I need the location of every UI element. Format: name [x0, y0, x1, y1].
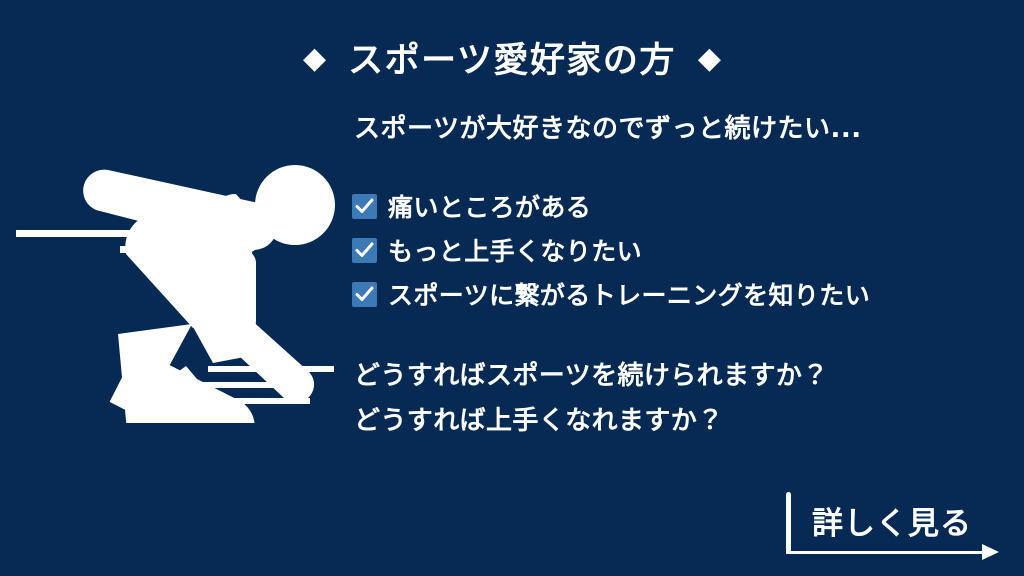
- list-item[interactable]: もっと上手くなりたい: [352, 233, 1012, 267]
- benefit-checklist: 痛いところがある もっと上手くなりたい スポーツに繋がるトレーニングを知りたい: [352, 189, 1012, 311]
- page-title-text: スポーツ愛好家の方: [348, 32, 676, 83]
- diamond-left-icon: ◆: [303, 44, 326, 74]
- cta-label[interactable]: 詳しく見る: [812, 498, 972, 543]
- question-line: どうすればスポーツを続けられますか？: [354, 355, 1012, 392]
- slide-root: ◆ スポーツ愛好家の方 ◆: [0, 0, 1024, 576]
- cta-horizontal-rule: [786, 551, 984, 554]
- question-line: どうすれば上手くなれますか？: [354, 400, 1012, 437]
- checkbox-checked-icon[interactable]: [352, 282, 377, 307]
- cta-vertical-rule: [786, 492, 791, 554]
- list-item-label: もっと上手くなりたい: [388, 232, 642, 268]
- arrow-right-icon: [982, 544, 999, 560]
- list-item[interactable]: スポーツに繋がるトレーニングを知りたい: [352, 277, 1012, 311]
- list-item[interactable]: 痛いところがある: [352, 189, 1012, 223]
- content-column: スポーツが大好きなのでずっと続けたい... 痛いところがある もっと上手くなりた…: [352, 108, 1012, 445]
- list-item-label: スポーツに繋がるトレーニングを知りたい: [388, 276, 870, 312]
- diamond-right-icon: ◆: [698, 44, 721, 74]
- checkbox-checked-icon[interactable]: [352, 238, 377, 263]
- checkbox-checked-icon[interactable]: [352, 194, 377, 219]
- question-block: どうすればスポーツを続けられますか？ どうすれば上手くなれますか？: [352, 355, 1012, 437]
- cta-read-more[interactable]: 詳しく見る: [786, 492, 1014, 564]
- list-item-label: 痛いところがある: [388, 188, 591, 224]
- running-person-icon: [8, 158, 338, 423]
- page-title: ◆ スポーツ愛好家の方 ◆: [0, 32, 1024, 83]
- lead-text: スポーツが大好きなのでずっと続けたい...: [354, 108, 1012, 145]
